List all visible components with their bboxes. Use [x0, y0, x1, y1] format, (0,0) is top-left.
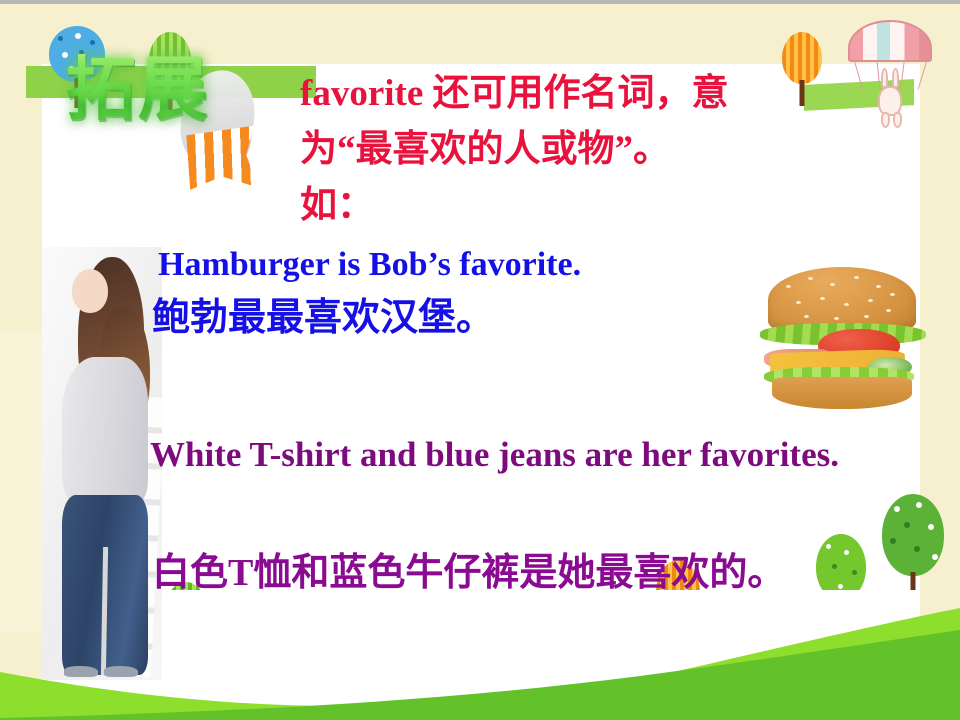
bun-seed	[786, 285, 791, 288]
tree-dot	[852, 570, 857, 575]
title-art-label: 拓展	[66, 54, 210, 124]
tree-dot	[58, 36, 63, 41]
tree-dot	[844, 550, 849, 555]
bun-seed	[820, 297, 825, 300]
photo-shoe-right	[104, 666, 138, 677]
tree-dot	[90, 40, 95, 45]
parachute-cord	[900, 60, 905, 90]
tree-dot	[890, 538, 896, 544]
bun-seed	[876, 285, 881, 288]
tree-dot	[904, 522, 910, 528]
tree-crown	[882, 494, 944, 576]
burger-bottom-bun	[772, 377, 912, 409]
bun-seed	[844, 303, 849, 306]
photo-shoe-left	[64, 666, 98, 677]
bun-seed	[808, 277, 813, 280]
photo-face	[72, 269, 108, 313]
tree-dot	[914, 546, 920, 552]
bun-seed	[854, 276, 859, 279]
tree-dot	[932, 554, 938, 560]
bun-seed	[834, 317, 839, 320]
tree-dot	[894, 506, 900, 512]
tree-dot	[832, 564, 837, 569]
bun-seed	[886, 309, 891, 312]
parachute-cord	[918, 61, 928, 90]
bun-seed	[804, 315, 809, 318]
example-2-english: White T-shirt and blue jeans are her fav…	[150, 428, 910, 482]
example-1-english: Hamburger is Bob’s favorite.	[158, 245, 581, 285]
tree-dot	[916, 502, 922, 508]
bun-seed	[864, 315, 869, 318]
bun-seed	[890, 293, 895, 296]
tree-dot	[928, 524, 934, 530]
example-2-chinese: 白色T恤和蓝色牛仔裤是她最喜欢的。	[152, 550, 785, 596]
bun-seed	[830, 283, 835, 286]
parachute-canopy	[848, 20, 932, 62]
red-explanation-text: favorite 还可用作名词，意 为“最喜欢的人或物”。 如：	[300, 66, 890, 234]
bun-seed	[868, 299, 873, 302]
bunny-ear-right	[892, 68, 899, 88]
bun-seed	[796, 301, 801, 304]
photo-white-tshirt	[62, 357, 148, 507]
slide-canvas: 拓展 favorite 还可用作名词，意 为“最喜欢的人或物”。 如： Hamb…	[0, 0, 960, 720]
example-1-chinese: 鲍勃最最喜欢汉堡。	[152, 296, 494, 340]
hamburger-photo	[760, 257, 928, 417]
tree-dot	[75, 33, 81, 39]
girl-photo	[42, 247, 162, 680]
tree-dot	[826, 544, 831, 549]
title-art-tuozhan: 拓展	[60, 48, 290, 198]
bunny-leg-right	[893, 112, 902, 128]
ribbon-orange-striped	[186, 126, 258, 193]
